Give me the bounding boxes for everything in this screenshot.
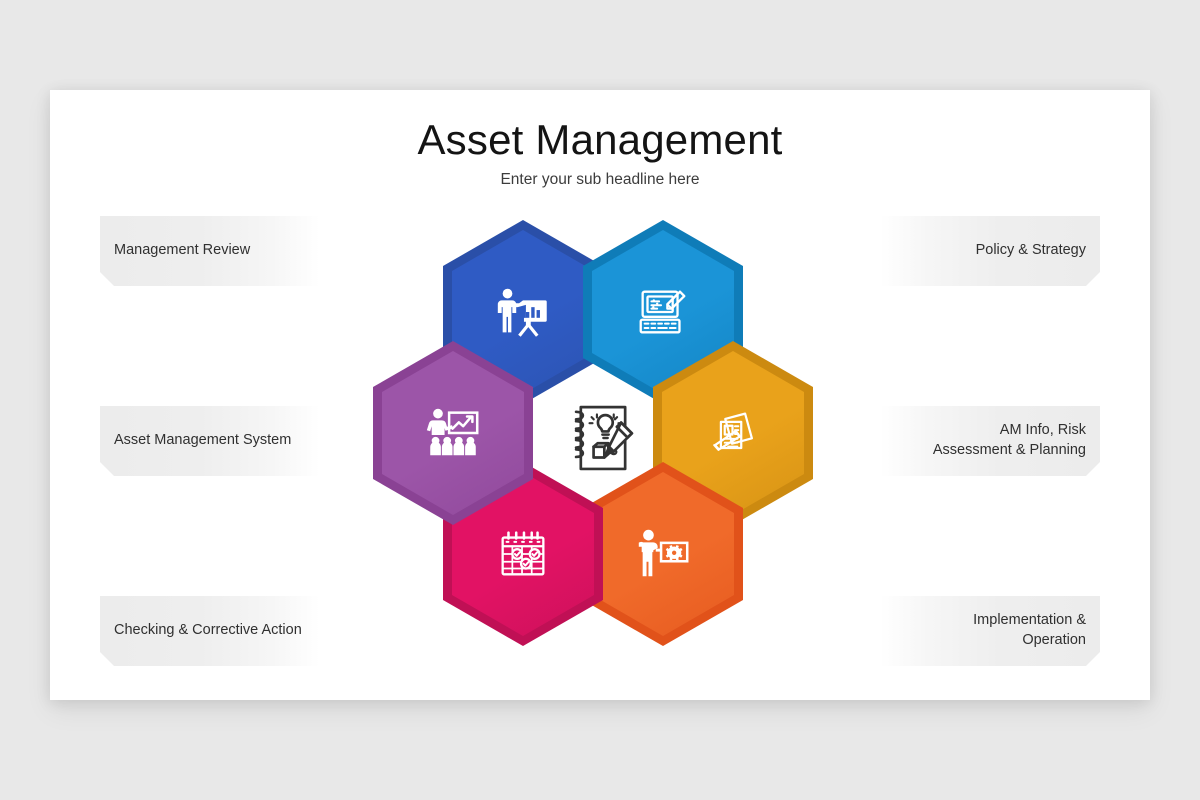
label-text-line2: Assessment & Planning	[933, 442, 1086, 458]
label-text-line1: AM Info, Risk	[1000, 422, 1086, 438]
hexagon-cluster	[375, 220, 835, 670]
slide-root: Asset Management Enter your sub headline…	[0, 0, 1200, 800]
label-chip-policy-strategy[interactable]: Policy & Strategy	[880, 216, 1100, 286]
center-notepad-idea-pencil	[553, 386, 657, 490]
page-subtitle: Enter your sub headline here	[50, 171, 1150, 189]
label-text: Checking & Corrective Action	[114, 621, 302, 641]
label-text: Management Review	[114, 241, 250, 261]
label-text: Policy & Strategy	[976, 241, 1086, 261]
papers-pen-icon	[702, 402, 764, 464]
label-text-line2: Operation	[1022, 632, 1086, 648]
presenter-gear-icon	[632, 523, 694, 585]
document-pencil-icon	[632, 281, 694, 343]
calendar-check-icon	[492, 523, 554, 585]
presenter-chart-icon	[492, 281, 554, 343]
label-chip-checking-corrective-action[interactable]: Checking & Corrective Action	[100, 596, 320, 666]
label-chip-am-info-risk[interactable]: AM Info, Risk Assessment & Planning	[880, 406, 1100, 476]
slide-card: Asset Management Enter your sub headline…	[50, 90, 1150, 700]
label-text-line1: Implementation &	[973, 612, 1086, 628]
page-title: Asset Management	[50, 116, 1150, 164]
label-text: Implementation & Operation	[973, 611, 1086, 650]
presenter-audience-icon	[422, 402, 484, 464]
label-chip-asset-management-system[interactable]: Asset Management System	[100, 406, 320, 476]
label-text: AM Info, Risk Assessment & Planning	[933, 421, 1086, 460]
label-text: Asset Management System	[114, 431, 291, 451]
notepad-idea-pencil-icon	[562, 395, 648, 481]
label-chip-implementation-operation[interactable]: Implementation & Operation	[880, 596, 1100, 666]
label-chip-management-review[interactable]: Management Review	[100, 216, 320, 286]
